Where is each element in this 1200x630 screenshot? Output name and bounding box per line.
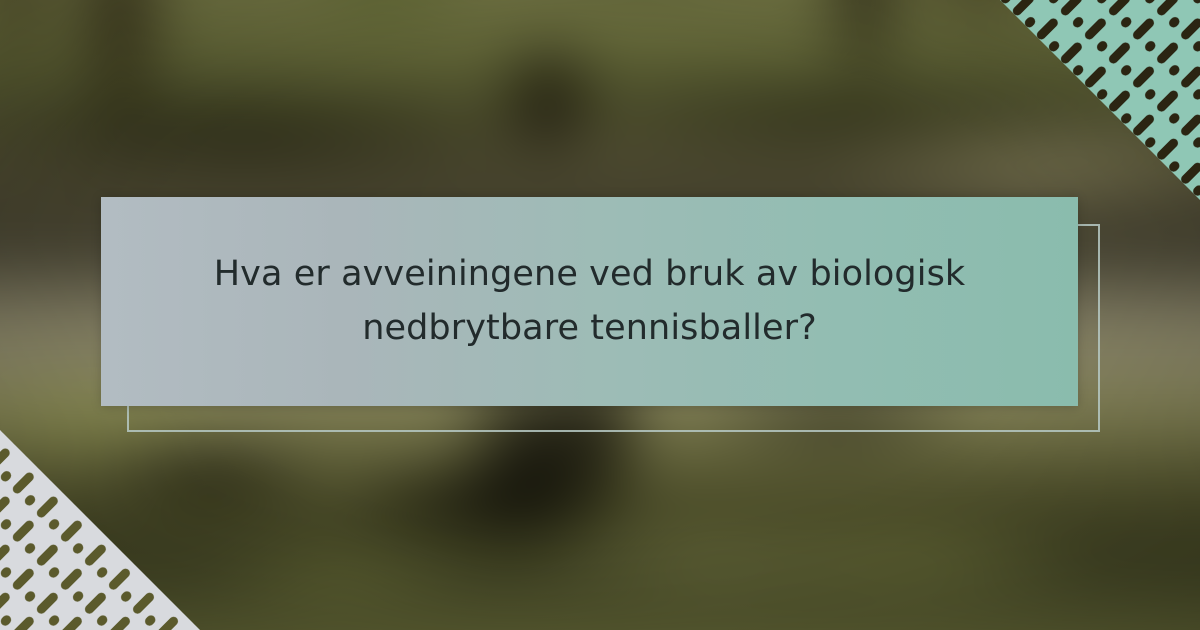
quote-card-canvas: Hva er avveiningene ved bruk av biologis… — [0, 0, 1200, 630]
quote-text: Hva er avveiningene ved bruk av biologis… — [154, 248, 1026, 354]
quote-card: Hva er avveiningene ved bruk av biologis… — [101, 197, 1078, 406]
